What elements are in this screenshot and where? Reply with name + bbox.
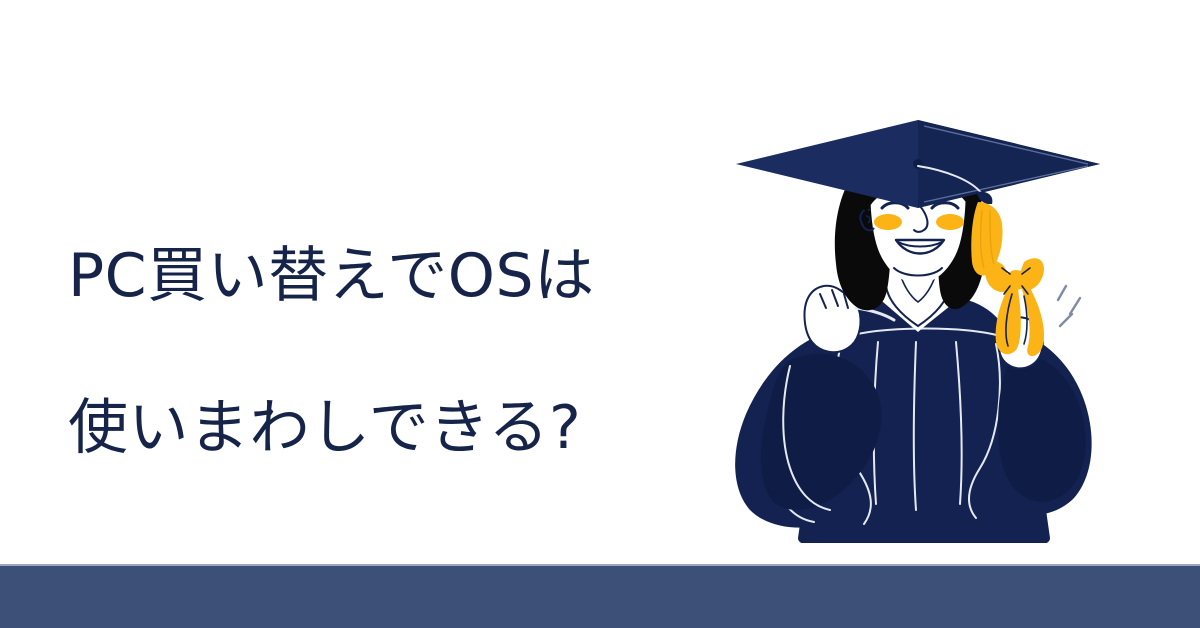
footer-bar bbox=[0, 564, 1200, 628]
page-title-line-2: 使いまわしできる? bbox=[68, 390, 728, 466]
graduate-student-illustration bbox=[728, 118, 1108, 543]
motion-lines bbox=[1058, 286, 1080, 326]
page-title: PC買い替えでOSは 使いまわしできる? bbox=[68, 162, 728, 542]
header-card: PC買い替えでOSは 使いまわしできる? bbox=[0, 0, 1200, 628]
right-arm bbox=[998, 354, 1086, 502]
page-title-line-1: PC買い替えでOSは bbox=[68, 238, 728, 314]
blush-right bbox=[936, 214, 964, 230]
blush-left bbox=[874, 214, 902, 230]
